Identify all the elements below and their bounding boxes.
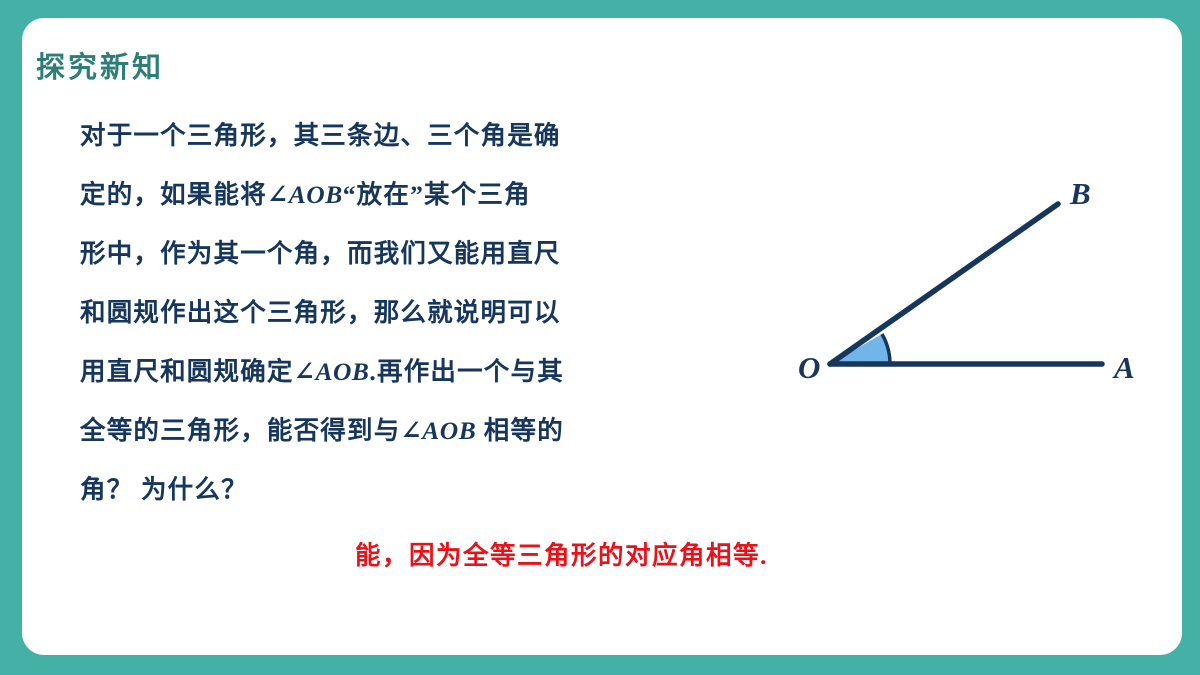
point-label-a: A [1112,350,1135,385]
body-line: 全等的三角形，能否得到与∠AOB 相等的 [80,401,760,460]
body-line-text: 定的，如果能将 [80,180,267,209]
body-line: 对于一个三角形，其三条边、三个角是确 [80,106,760,165]
body-line-text: 角？ 为什么？ [80,475,248,504]
body-line-text: .再作出一个与其 [369,357,563,386]
page-title: 探究新知 [36,44,164,86]
content-panel: 探究新知 对于一个三角形，其三条边、三个角是确 定的，如果能将∠AOB“放在”某… [22,18,1182,655]
angle-aob-diagram: O A B [762,168,1162,418]
answer-text: 能，因为全等三角形的对应角相等. [355,536,768,576]
body-paragraph: 对于一个三角形，其三条边、三个角是确 定的，如果能将∠AOB“放在”某个三角 形… [80,106,760,519]
body-line-text: 对于一个三角形，其三条边、三个角是确 [80,121,561,150]
point-label-b: B [1069,176,1091,211]
body-line: 角？ 为什么？ [80,460,760,519]
ray-ob-line [830,204,1058,364]
slide-canvas: 探究新知 对于一个三角形，其三条边、三个角是确 定的，如果能将∠AOB“放在”某… [0,0,1200,675]
body-line-text: 相等的 [476,416,564,445]
body-line: 和圆规作出这个三角形，那么就说明可以 [80,283,760,342]
math-angle-aob: ∠AOB [267,180,343,209]
body-line-text: 形中，作为其一个角，而我们又能用直尺 [80,239,561,268]
point-label-o: O [798,350,820,385]
body-line-text: 和圆规作出这个三角形，那么就说明可以 [80,298,561,327]
body-line-text: 用直尺和圆规确定 [80,357,294,386]
math-angle-aob: ∠AOB [400,416,476,445]
body-line: 用直尺和圆规确定∠AOB.再作出一个与其 [80,342,760,401]
math-angle-aob: ∠AOB [294,357,370,386]
body-line-text: “放在”某个三角 [343,180,531,209]
body-line-text: 全等的三角形，能否得到与 [80,416,400,445]
body-line: 形中，作为其一个角，而我们又能用直尺 [80,224,760,283]
body-line: 定的，如果能将∠AOB“放在”某个三角 [80,165,760,224]
